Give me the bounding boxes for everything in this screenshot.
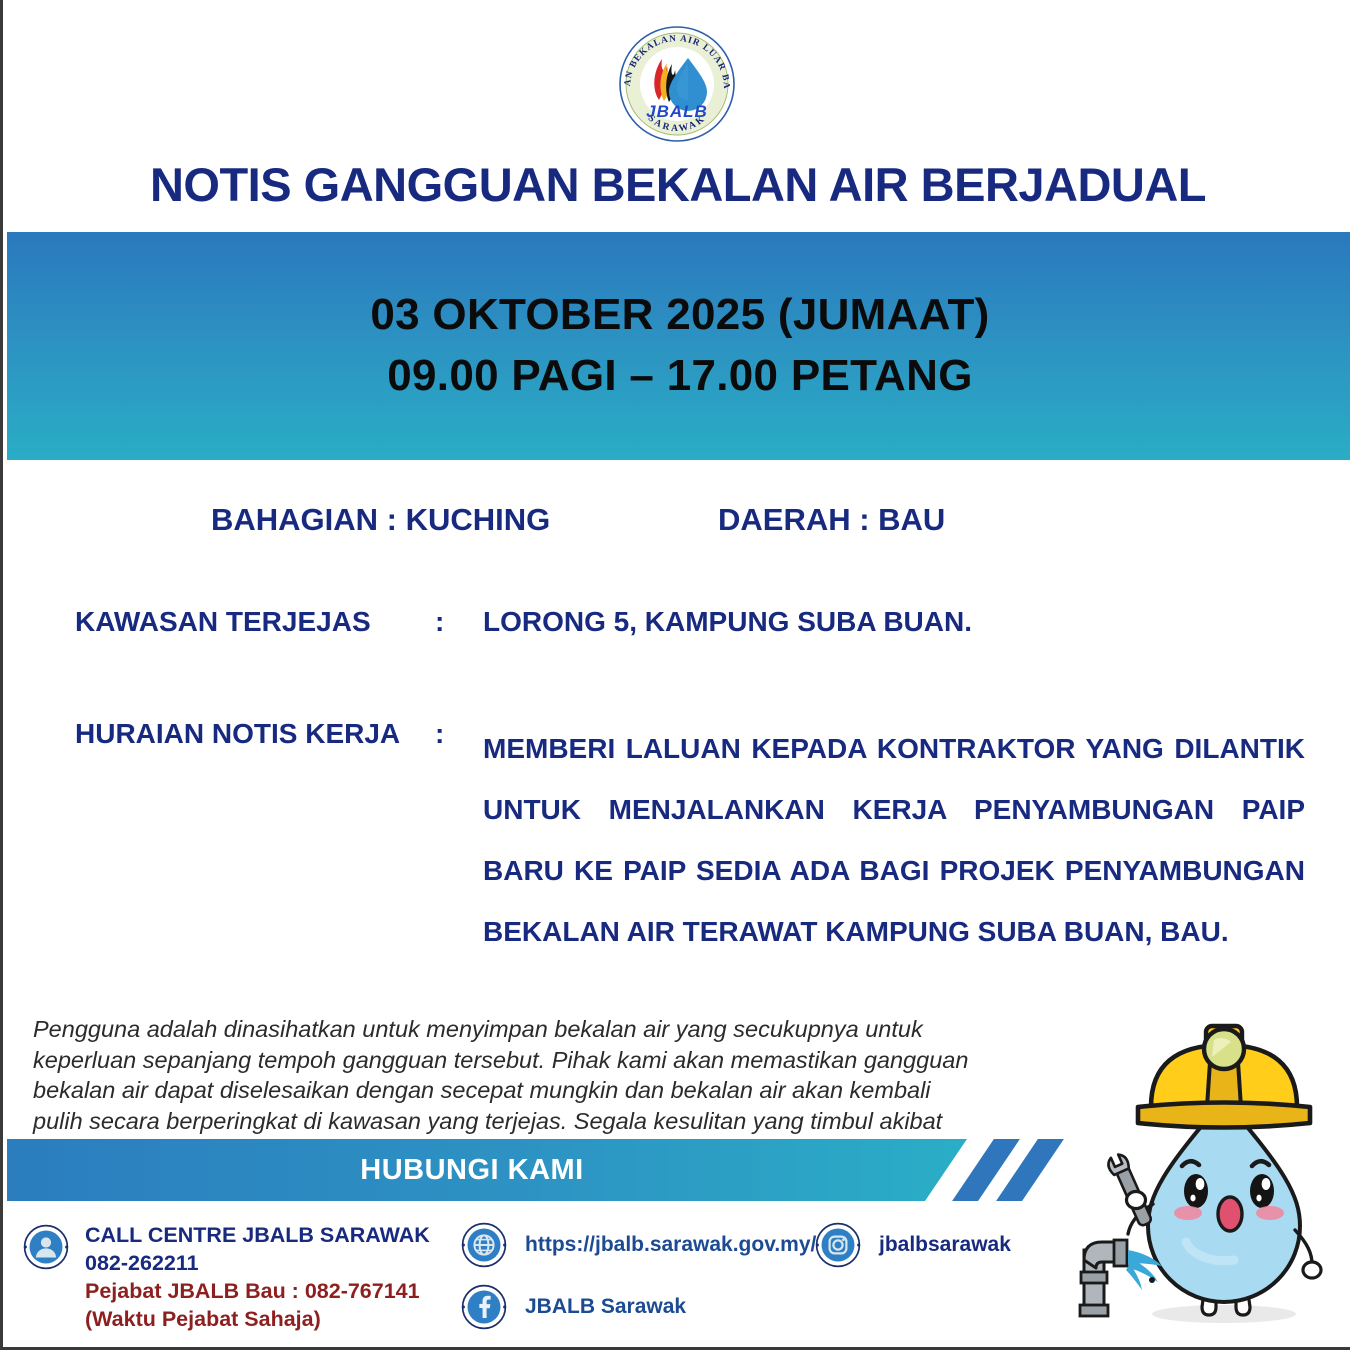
- bahagian-text: BAHAGIAN : KUCHING: [211, 502, 550, 538]
- facebook-label: JBALB Sarawak: [525, 1295, 686, 1319]
- instagram-icon: [815, 1222, 861, 1268]
- work-description-line: MEMBERI LALUAN KEPADA KONTRAKTOR YANG DI…: [483, 718, 1305, 779]
- call-centre-lines: CALL CENTRE JBALB SARAWAK 082-262211 Pej…: [85, 1222, 430, 1334]
- banner-date: 03 OKTOBER 2025 (JUMAAT): [370, 285, 989, 346]
- affected-area-value: LORONG 5, KAMPUNG SUBA BUAN.: [483, 606, 972, 638]
- svg-text:JBALB: JBALB: [646, 102, 708, 121]
- work-description-line: UNTUK MENJALANKAN KERJA PENYAMBUNGAN PAI…: [483, 779, 1305, 840]
- date-banner: 03 OKTOBER 2025 (JUMAAT) 09.00 PAGI – 17…: [7, 232, 1350, 460]
- affected-area-label: KAWASAN TERJEJAS: [75, 606, 371, 638]
- contact-banner-title: HUBUNGI KAMI: [7, 1139, 937, 1201]
- page-title: NOTIS GANGGUAN BEKALAN AIR BERJADUAL: [3, 157, 1350, 212]
- website-label: https://jbalb.sarawak.gov.my/: [525, 1233, 816, 1257]
- jbalb-logo: JABATAN BEKALAN AIR LUAR BANDAR SARAWAK …: [612, 22, 742, 146]
- work-description-line: BEKALAN AIR TERAWAT KAMPUNG SUBA BUAN, B…: [483, 901, 1305, 962]
- globe-icon: [461, 1222, 507, 1268]
- facebook-link[interactable]: JBALB Sarawak: [461, 1284, 686, 1330]
- bau-office-phone: Pejabat JBALB Bau : 082-767141: [85, 1278, 430, 1306]
- affected-area-colon: :: [435, 606, 444, 638]
- contact-banner: HUBUNGI KAMI: [7, 1139, 1053, 1201]
- instagram-label: jbalbsarawak: [879, 1233, 1011, 1257]
- instagram-link[interactable]: jbalbsarawak: [815, 1222, 1011, 1268]
- work-description-line: BARU KE PAIP SEDIA ADA BAGI PROJEK PENYA…: [483, 840, 1305, 901]
- work-description-body: MEMBERI LALUAN KEPADA KONTRAKTOR YANG DI…: [483, 718, 1305, 962]
- website-link[interactable]: https://jbalb.sarawak.gov.my/: [461, 1222, 816, 1268]
- banner-time: 09.00 PAGI – 17.00 PETANG: [387, 346, 972, 407]
- notice-page: JABATAN BEKALAN AIR LUAR BANDAR SARAWAK …: [0, 0, 1350, 1350]
- work-description-label: HURAIAN NOTIS KERJA: [75, 718, 400, 750]
- call-centre-phone: 082-262211: [85, 1250, 430, 1278]
- call-centre-title: CALL CENTRE JBALB SARAWAK: [85, 1222, 430, 1250]
- person-icon: [23, 1224, 69, 1270]
- daerah-text: DAERAH : BAU: [718, 502, 945, 538]
- office-hours-note: (Waktu Pejabat Sahaja): [85, 1306, 430, 1334]
- call-centre-block: CALL CENTRE JBALB SARAWAK 082-262211 Pej…: [23, 1222, 453, 1268]
- work-description-colon: :: [435, 718, 444, 750]
- water-droplet-worker-mascot: [1056, 992, 1348, 1342]
- facebook-icon: [461, 1284, 507, 1330]
